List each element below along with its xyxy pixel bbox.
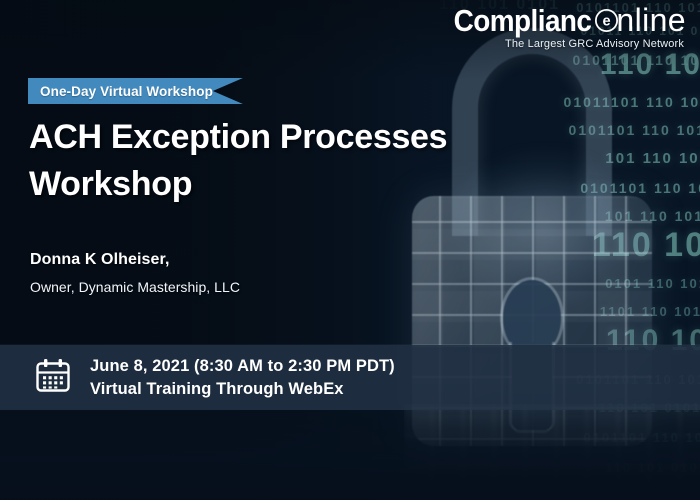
event-date: June 8, 2021 (8:30 AM to 2:30 PM PDT) — [90, 355, 395, 378]
speaker-block: Donna K Olheiser, Owner, Dynamic Masters… — [30, 251, 430, 295]
page-title-line-2: Workshop — [29, 161, 499, 208]
compliance-online-logo[interactable]: Complianc e nline The Largest GRC Adviso… — [456, 4, 686, 50]
calendar-icon — [33, 355, 73, 400]
e-in-circle-icon: e — [594, 8, 619, 33]
webinar-banner: 0101101 110 101110 101 010101011 110 101… — [0, 0, 700, 500]
event-details-bar: June 8, 2021 (8:30 AM to 2:30 PM PDT) Vi… — [0, 345, 700, 410]
workshop-type-badge: One-Day Virtual Workshop — [28, 78, 243, 104]
speaker-name: Donna K Olheiser, — [30, 251, 430, 269]
svg-text:e: e — [603, 13, 611, 29]
logo-tagline: The Largest GRC Advisory Network — [456, 38, 686, 50]
page-title-line-1: ACH Exception Processes — [29, 114, 499, 161]
background-vignette — [0, 0, 700, 500]
workshop-type-badge-label: One-Day Virtual Workshop — [40, 84, 213, 99]
event-venue: Virtual Training Through WebEx — [90, 378, 395, 401]
logo-wordmark: Complianc e nline — [456, 4, 686, 36]
logo-brand-bold: Complianc — [454, 5, 592, 36]
page-title: ACH Exception Processes Workshop — [29, 114, 499, 208]
speaker-role: Owner, Dynamic Mastership, LLC — [30, 279, 430, 295]
event-details-text: June 8, 2021 (8:30 AM to 2:30 PM PDT) Vi… — [90, 355, 395, 401]
logo-brand-thin: nline — [616, 4, 686, 36]
